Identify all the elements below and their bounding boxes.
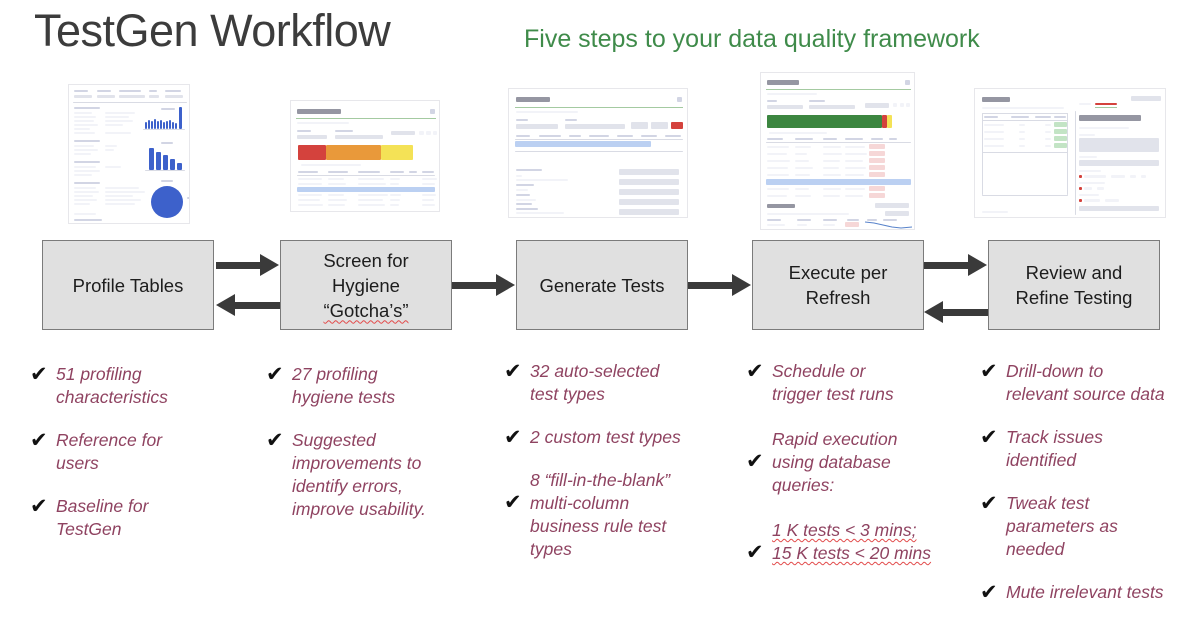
check-icon: ✔ [746,541,772,564]
check-icon: ✔ [980,360,1006,383]
bullet-item: ✔ Reference for users [30,429,245,475]
bullet-text: Rapid execution using database queries: [772,428,898,497]
check-icon: ✔ [746,450,772,473]
bullet-text: Suggested improvements to identify error… [292,429,426,521]
bullet-text: Track issues identified [1006,426,1103,472]
step-line-2: Hygiene [332,275,400,296]
bullet-text: 51 profiling characteristics [56,363,168,409]
step-box-generate-tests[interactable]: Generate Tests [516,240,688,330]
bullet-item: ✔ 2 custom test types [504,426,724,449]
bullet-item: ✔ Rapid execution using database queries… [746,428,961,497]
step-box-review-and-refine-testing[interactable]: Review and Refine Testing [988,240,1160,330]
bullet-item: ✔ 27 profiling hygiene tests [266,363,481,409]
bullet-text: 32 auto-selected test types [530,360,659,406]
profiling-anomalies-screenshot [290,100,440,212]
bullet-item: ✔ Drill-down to relevant source data [980,360,1200,406]
step-line-3-misspelled: “Gotcha’s” [323,300,408,321]
check-icon: ✔ [980,581,1006,604]
bullets-profile-tables: ✔ 51 profiling characteristics ✔ Referen… [30,363,245,541]
bullet-item: ✔ 1 K tests < 3 mins; 15 K tests < 20 mi… [746,519,961,565]
bullet-item: ✔ Track issues identified [980,426,1200,472]
bullet-text: Schedule or trigger test runs [772,360,894,406]
dashboard-screenshot [760,72,915,230]
step-label-execute-per-refresh: Execute per Refresh [783,260,894,310]
step-line-1: Screen for [323,250,408,271]
step-box-profile-tables[interactable]: Profile Tables [42,240,214,330]
bullet-text: 2 custom test types [530,426,681,449]
bullet-item: ✔ Mute irrelevant tests [980,581,1200,604]
page-title: TestGen Workflow [34,2,390,60]
bullet-text: Reference for users [56,429,162,475]
bullet-item: ✔ Tweak test parameters as needed [980,492,1200,561]
row-count-edit-test-configuration-screenshot [974,88,1166,218]
check-icon: ✔ [30,363,56,386]
step-line-1: Execute per [789,262,888,283]
step-label-screen-for-hygiene-gotchas: Screen for Hygiene “Gotcha’s” [317,248,414,323]
check-icon: ✔ [980,492,1006,515]
bullet-item: ✔ 32 auto-selected test types [504,360,724,406]
test-suites-screenshot [508,88,688,218]
step-label-review-and-refine-testing: Review and Refine Testing [1010,260,1139,310]
bullet-text: Baseline for TestGen [56,495,148,541]
check-icon: ✔ [30,429,56,452]
bullets-generate-tests: ✔ 32 auto-selected test types ✔ 2 custom… [504,360,724,561]
bullets-execute-per-refresh: ✔ Schedule or trigger test runs ✔ Rapid … [746,360,961,565]
bullets-screen-for-hygiene: ✔ 27 profiling hygiene tests ✔ Suggested… [266,363,481,521]
check-icon: ✔ [266,363,292,386]
step-line-2: Refine Testing [1016,287,1133,308]
bullet-item: ✔ Schedule or trigger test runs [746,360,961,406]
bullet-item: ✔ 8 “fill-in-the-blank” multi-column bus… [504,469,724,561]
check-icon: ✔ [504,426,530,449]
bullet-text: Tweak test parameters as needed [1006,492,1118,561]
bullet-item: ✔ Baseline for TestGen [30,495,245,541]
check-icon: ✔ [746,360,772,383]
step-box-screen-for-hygiene-gotchas[interactable]: Screen for Hygiene “Gotcha’s” [280,240,452,330]
bullet-item: ✔ Suggested improvements to identify err… [266,429,481,521]
bullet-text: 8 “fill-in-the-blank” multi-column busin… [530,469,670,561]
step-box-execute-per-refresh[interactable]: Execute per Refresh [752,240,924,330]
step-label-profile-tables: Profile Tables [67,273,190,298]
bullets-review-and-refine: ✔ Drill-down to relevant source data ✔ T… [980,360,1200,604]
bullet-text: Mute irrelevant tests [1006,581,1164,604]
check-icon: ✔ [980,426,1006,449]
profiling-results-screenshot [68,84,190,224]
step-line-2: Refresh [806,287,871,308]
step-label-generate-tests: Generate Tests [533,273,670,298]
bullet-item: ✔ 51 profiling characteristics [30,363,245,409]
check-icon: ✔ [30,495,56,518]
bullet-text: 27 profiling hygiene tests [292,363,395,409]
step-line-1: Review and [1026,262,1123,283]
bullet-text: 1 K tests < 3 mins; 15 K tests < 20 mins [772,519,931,565]
check-icon: ✔ [504,491,530,514]
check-icon: ✔ [266,429,292,452]
bullet-text: Drill-down to relevant source data [1006,360,1165,406]
check-icon: ✔ [504,360,530,383]
page-subtitle: Five steps to your data quality framewor… [524,22,980,56]
